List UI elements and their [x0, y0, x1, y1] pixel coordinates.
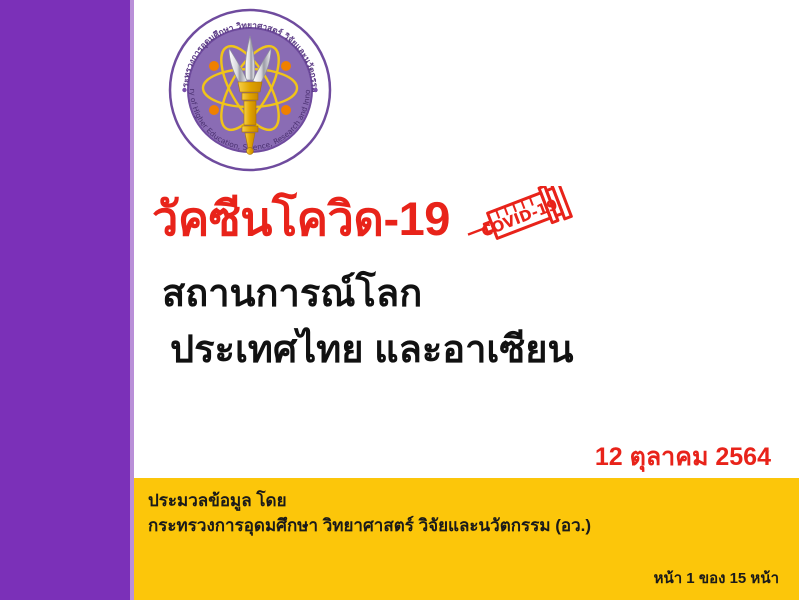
- logo-ring-dot-right: [313, 88, 317, 92]
- slide-canvas: กระทรวงการอุดมศึกษา วิทยาศาสตร์ วิจัยและ…: [0, 0, 799, 600]
- title-block: วัคซีนโควิด-19: [152, 186, 792, 369]
- date-label: 12 ตุลาคม 2564: [595, 437, 771, 477]
- footer-credit-line-1: ประมวลข้อมูล โดย: [148, 489, 591, 514]
- page-title: วัคซีนโควิด-19: [152, 194, 450, 245]
- subtitle-line-2: ประเทศไทย และอาเซียน: [170, 331, 792, 369]
- syringe-icon: COVID-19: [460, 186, 578, 247]
- footer-band: ประมวลข้อมูล โดย กระทรวงการอุดมศึกษา วิท…: [134, 478, 799, 600]
- left-purple-bar: [0, 0, 130, 600]
- page-indicator: หน้า 1 ของ 15 หน้า: [654, 566, 779, 590]
- logo-ring-dot-left: [182, 88, 186, 92]
- subtitle-line-1: สถานการณ์โลก: [162, 275, 792, 313]
- footer-credit: ประมวลข้อมูล โดย กระทรวงการอุดมศึกษา วิท…: [148, 489, 591, 538]
- footer-credit-line-2: กระทรวงการอุดมศึกษา วิทยาศาสตร์ วิจัยและ…: [148, 514, 591, 539]
- ministry-seal-logo: กระทรวงการอุดมศึกษา วิทยาศาสตร์ วิจัยและ…: [168, 8, 332, 172]
